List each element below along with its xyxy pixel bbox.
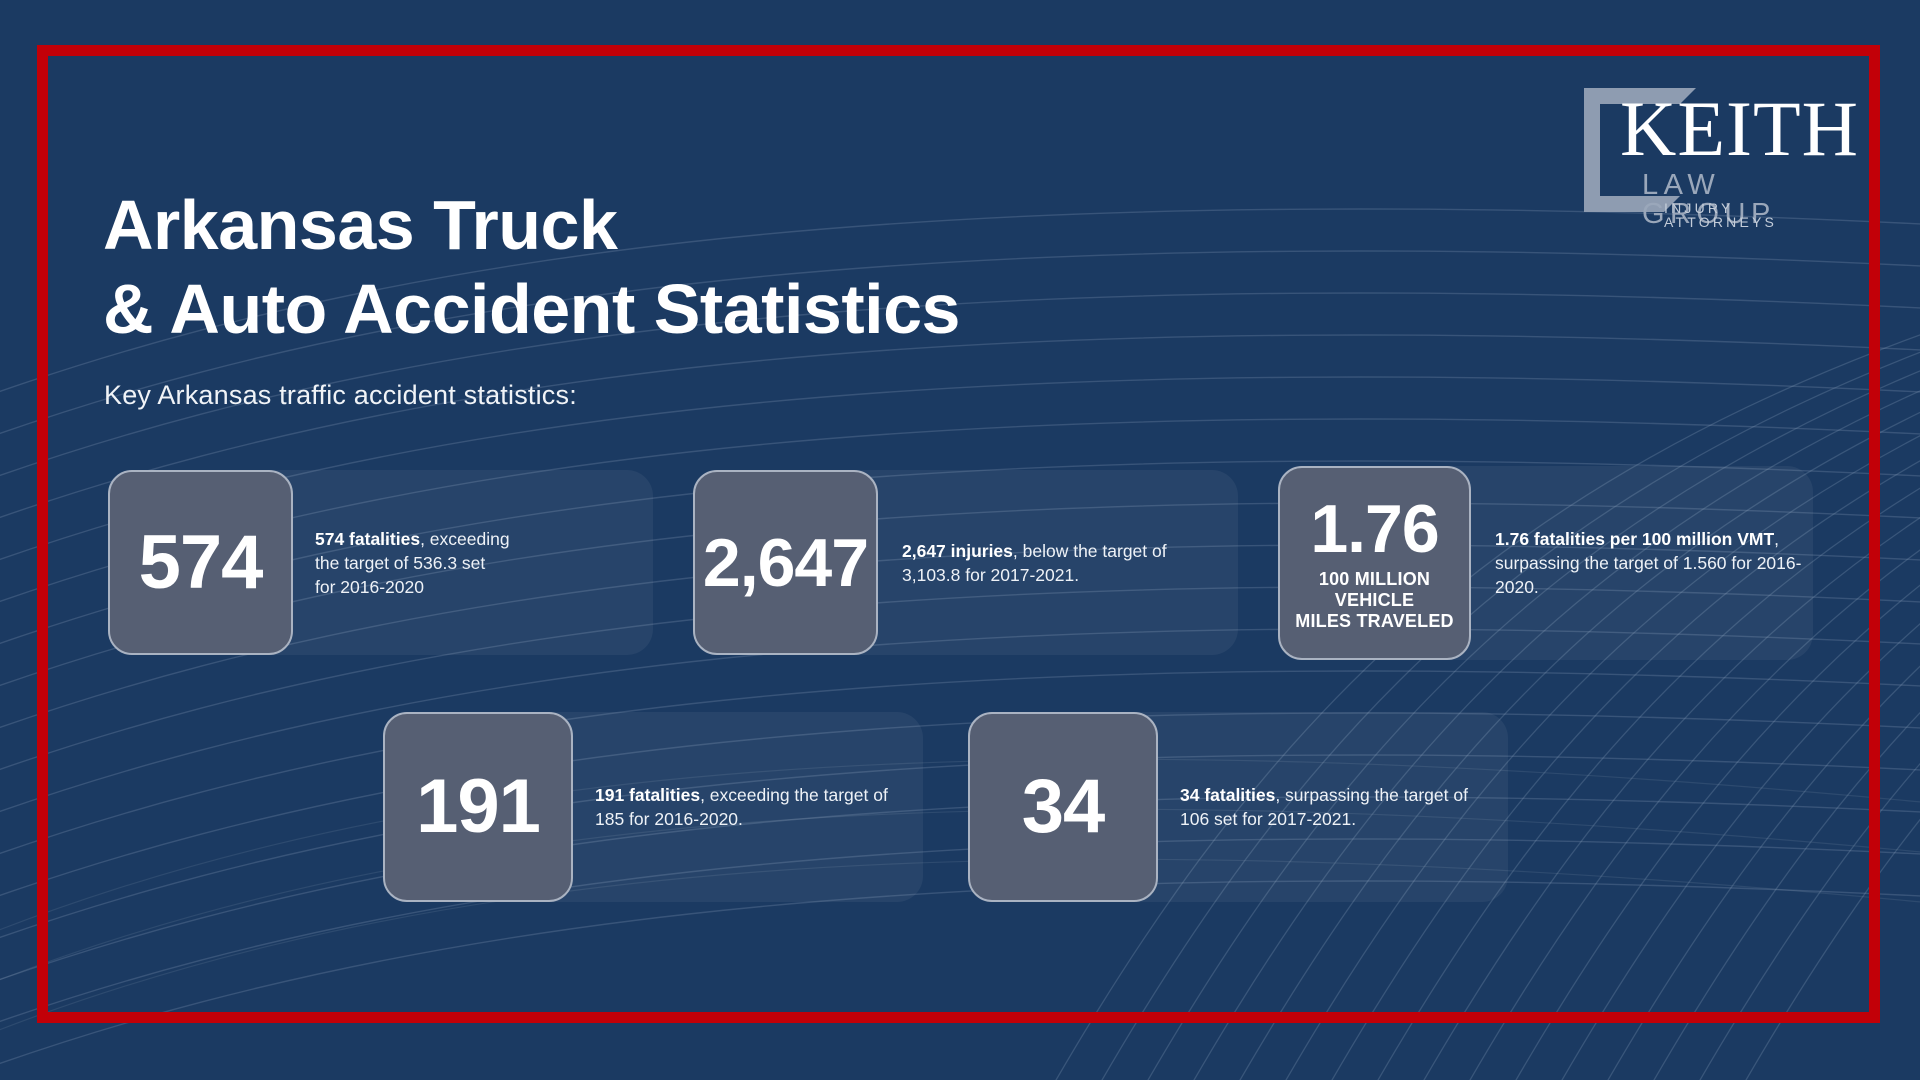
stat-value: 1.76 xyxy=(1310,495,1438,563)
infographic-canvas: Arkansas Truck & Auto Accident Statistic… xyxy=(0,0,1920,1080)
logo-wordmark: KEITH xyxy=(1620,90,1859,168)
logo-subtagline: INJURY ATTORNEYS xyxy=(1664,201,1852,229)
stat-description-lead: 34 fatalities xyxy=(1180,785,1275,805)
stat-value-box: 1.76 100 MILLION VEHICLE MILES TRAVELED xyxy=(1278,466,1471,660)
stat-value: 191 xyxy=(416,769,540,845)
stat-description-lead: 1.76 fatalities per 100 million VMT xyxy=(1495,529,1774,549)
page-title: Arkansas Truck & Auto Accident Statistic… xyxy=(103,183,960,351)
stat-item: 1.76 100 MILLION VEHICLE MILES TRAVELED … xyxy=(1278,466,1813,660)
stat-value: 2,647 xyxy=(703,529,868,597)
stat-value-box: 574 xyxy=(108,470,293,655)
stat-value: 34 xyxy=(1022,769,1105,845)
stat-description: 191 fatalities, exceeding the target of … xyxy=(595,783,895,831)
stat-description: 2,647 injuries, below the target of 3,10… xyxy=(902,539,1202,587)
page-subtitle: Key Arkansas traffic accident statistics… xyxy=(104,380,577,411)
stat-value: 574 xyxy=(139,525,263,601)
stat-item: 34 34 fatalities, surpassing the target … xyxy=(968,712,1508,902)
stat-sublabel: 100 MILLION VEHICLE MILES TRAVELED xyxy=(1295,569,1453,632)
stat-description-lead: 2,647 injuries xyxy=(902,541,1013,561)
stat-value-box: 34 xyxy=(968,712,1158,902)
stat-value-box: 191 xyxy=(383,712,573,902)
keith-law-group-logo[interactable]: KEITH LAW GROUP INJURY ATTORNEYS xyxy=(1584,88,1852,212)
stat-description: 1.76 fatalities per 100 million VMT, sur… xyxy=(1495,527,1805,599)
stat-item: 2,647 2,647 injuries, below the target o… xyxy=(693,470,1238,655)
stat-item: 191 191 fatalities, exceeding the target… xyxy=(383,712,923,902)
stat-description: 574 fatalities, exceeding the target of … xyxy=(315,527,510,599)
stat-description-lead: 191 fatalities xyxy=(595,785,700,805)
stat-value-box: 2,647 xyxy=(693,470,878,655)
stat-description-lead: 574 fatalities xyxy=(315,529,420,549)
stat-item: 574 574 fatalities, exceeding the target… xyxy=(108,470,653,655)
stat-description: 34 fatalities, surpassing the target of … xyxy=(1180,783,1480,831)
